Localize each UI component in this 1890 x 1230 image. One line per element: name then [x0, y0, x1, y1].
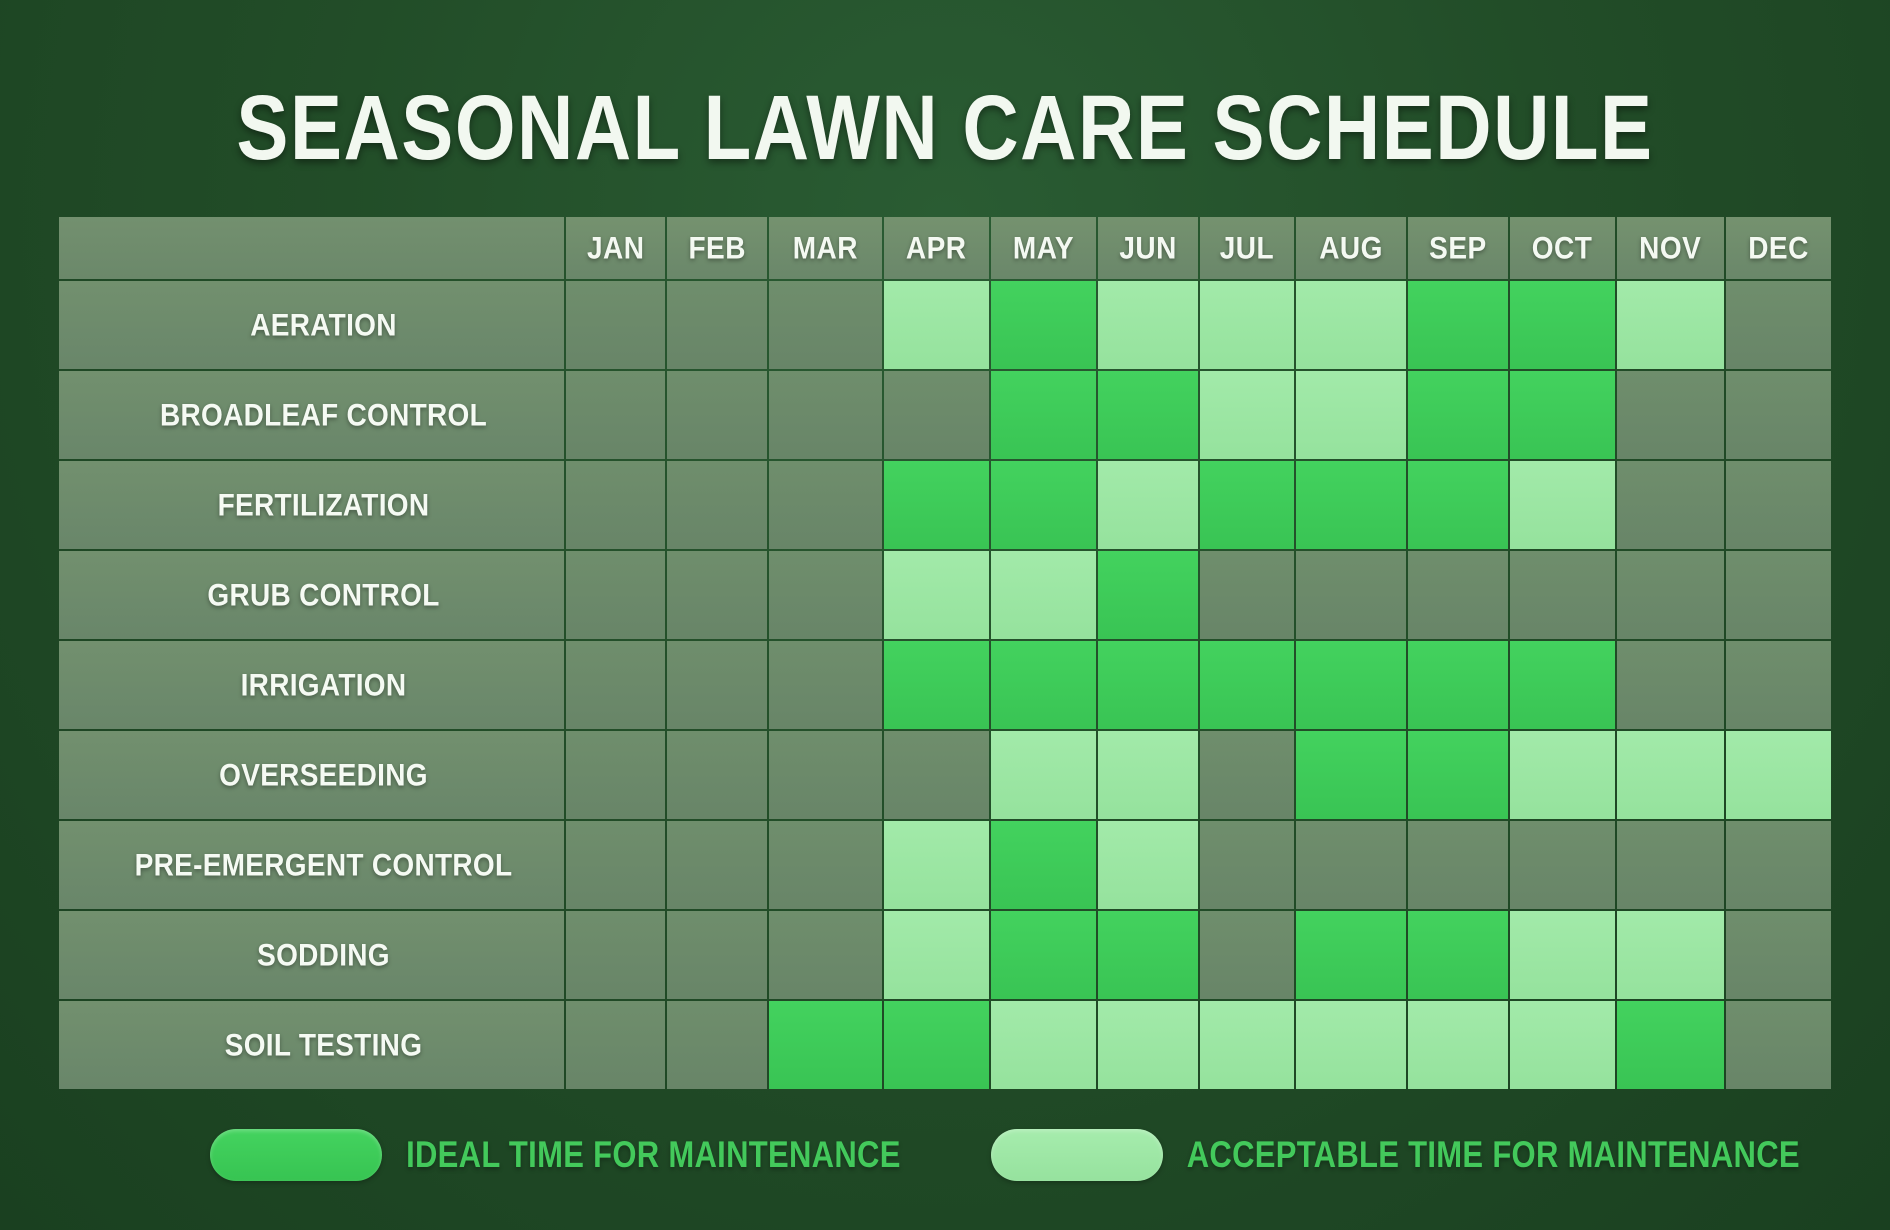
- schedule-cell-ideal[interactable]: [1098, 371, 1197, 459]
- column-header-mar[interactable]: MAR: [769, 217, 882, 279]
- table-row: PRE-EMERGENT CONTROL: [59, 821, 1831, 909]
- schedule-cell-none[interactable]: [884, 731, 989, 819]
- column-header-label: APR: [906, 230, 967, 266]
- schedule-cell-ideal[interactable]: [991, 371, 1097, 459]
- schedule-cell-ideal[interactable]: [769, 1001, 882, 1089]
- table-header-row: JANFEBMARAPRMAYJUNJULAUGSEPOCTNOVDEC: [59, 217, 1831, 279]
- row-header-irrigation[interactable]: IRRIGATION: [59, 641, 564, 729]
- schedule-cell-ideal[interactable]: [884, 1001, 989, 1089]
- schedule-cell-acceptable[interactable]: [1617, 911, 1725, 999]
- schedule-cell-none[interactable]: [566, 371, 665, 459]
- schedule-cell-acceptable[interactable]: [1726, 731, 1831, 819]
- column-header-label: MAR: [793, 230, 858, 266]
- schedule-cell-acceptable[interactable]: [1510, 1001, 1615, 1089]
- schedule-cell-acceptable[interactable]: [1200, 1001, 1294, 1089]
- schedule-cell-acceptable[interactable]: [1510, 461, 1615, 549]
- schedule-cell-acceptable[interactable]: [884, 281, 989, 369]
- column-header-feb[interactable]: FEB: [667, 217, 766, 279]
- schedule-cell-none[interactable]: [667, 461, 766, 549]
- schedule-cell-none[interactable]: [1200, 821, 1294, 909]
- schedule-cell-acceptable[interactable]: [884, 821, 989, 909]
- schedule-cell-acceptable[interactable]: [991, 551, 1097, 639]
- legend-item-ideal: IDEAL TIME FOR MAINTENANCE: [210, 1129, 901, 1181]
- column-header-label: OCT: [1532, 230, 1593, 266]
- legend: IDEAL TIME FOR MAINTENANCEACCEPTABLE TIM…: [0, 1129, 1890, 1181]
- schedule-cell-none[interactable]: [566, 1001, 665, 1089]
- table-row: FERTILIZATION: [59, 461, 1831, 549]
- schedule-cell-none[interactable]: [566, 461, 665, 549]
- title-area: SEASONAL LAWN CARE SCHEDULE: [0, 0, 1890, 165]
- schedule-cell-none[interactable]: [1617, 371, 1725, 459]
- schedule-cell-none[interactable]: [566, 281, 665, 369]
- schedule-cell-none[interactable]: [1200, 731, 1294, 819]
- schedule-cell-none[interactable]: [566, 911, 665, 999]
- schedule-table: JANFEBMARAPRMAYJUNJULAUGSEPOCTNOVDEC AER…: [57, 215, 1833, 1091]
- row-header-label: GRUB CONTROL: [207, 577, 439, 613]
- schedule-cell-ideal[interactable]: [1098, 911, 1197, 999]
- schedule-cell-none[interactable]: [1726, 461, 1831, 549]
- schedule-cell-none[interactable]: [1200, 911, 1294, 999]
- schedule-cell-ideal[interactable]: [1296, 641, 1406, 729]
- schedule-cell-acceptable[interactable]: [1098, 821, 1197, 909]
- schedule-cell-acceptable[interactable]: [1098, 281, 1197, 369]
- column-header-label: AUG: [1319, 230, 1383, 266]
- schedule-cell-ideal[interactable]: [1510, 371, 1615, 459]
- schedule-cell-none[interactable]: [1726, 641, 1831, 729]
- schedule-cell-acceptable[interactable]: [1408, 1001, 1508, 1089]
- schedule-cell-none[interactable]: [1617, 641, 1725, 729]
- column-header-jul[interactable]: JUL: [1200, 217, 1294, 279]
- schedule-cell-acceptable[interactable]: [1296, 371, 1406, 459]
- schedule-cell-none[interactable]: [667, 371, 766, 459]
- schedule-cell-none[interactable]: [566, 821, 665, 909]
- legend-swatch-acceptable: [991, 1129, 1163, 1181]
- schedule-cell-ideal[interactable]: [1200, 461, 1294, 549]
- row-header-grub-control[interactable]: GRUB CONTROL: [59, 551, 564, 639]
- legend-label: ACCEPTABLE TIME FOR MAINTENANCE: [1187, 1137, 1800, 1173]
- schedule-cell-ideal[interactable]: [991, 821, 1097, 909]
- schedule-cell-ideal[interactable]: [991, 281, 1097, 369]
- schedule-cell-none[interactable]: [769, 641, 882, 729]
- row-header-label: OVERSEEDING: [219, 757, 428, 793]
- schedule-cell-acceptable[interactable]: [1200, 281, 1294, 369]
- row-header-label: BROADLEAF CONTROL: [160, 397, 487, 433]
- row-header-overseeding[interactable]: OVERSEEDING: [59, 731, 564, 819]
- column-header-nov[interactable]: NOV: [1617, 217, 1725, 279]
- schedule-cell-acceptable[interactable]: [1510, 731, 1615, 819]
- schedule-cell-ideal[interactable]: [884, 641, 989, 729]
- row-header-label: FERTILIZATION: [218, 487, 430, 523]
- row-header-fertilization[interactable]: FERTILIZATION: [59, 461, 564, 549]
- column-header-may[interactable]: MAY: [991, 217, 1097, 279]
- schedule-cell-none[interactable]: [1726, 551, 1831, 639]
- schedule-cell-ideal[interactable]: [1617, 1001, 1725, 1089]
- row-header-sodding[interactable]: SODDING: [59, 911, 564, 999]
- column-header-label: JUL: [1220, 230, 1274, 266]
- column-header-label: FEB: [688, 230, 746, 266]
- column-header-dec[interactable]: DEC: [1726, 217, 1831, 279]
- schedule-cell-ideal[interactable]: [884, 461, 989, 549]
- schedule-cell-none[interactable]: [667, 641, 766, 729]
- schedule-cell-none[interactable]: [1726, 281, 1831, 369]
- schedule-cell-none[interactable]: [769, 461, 882, 549]
- table-row: SODDING: [59, 911, 1831, 999]
- schedule-cell-acceptable[interactable]: [991, 731, 1097, 819]
- page-title: SEASONAL LAWN CARE SCHEDULE: [236, 74, 1653, 181]
- schedule-cell-none[interactable]: [1296, 821, 1406, 909]
- schedule-cell-ideal[interactable]: [1408, 461, 1508, 549]
- schedule-cell-acceptable[interactable]: [884, 551, 989, 639]
- schedule-cell-ideal[interactable]: [1408, 641, 1508, 729]
- schedule-cell-none[interactable]: [1726, 911, 1831, 999]
- column-header-jun[interactable]: JUN: [1098, 217, 1197, 279]
- schedule-cell-none[interactable]: [769, 281, 882, 369]
- schedule-cell-ideal[interactable]: [1510, 281, 1615, 369]
- schedule-cell-ideal[interactable]: [991, 461, 1097, 549]
- schedule-cell-ideal[interactable]: [1408, 911, 1508, 999]
- row-header-aeration[interactable]: AERATION: [59, 281, 564, 369]
- legend-label: IDEAL TIME FOR MAINTENANCE: [406, 1137, 901, 1173]
- table-row: BROADLEAF CONTROL: [59, 371, 1831, 459]
- schedule-cell-none[interactable]: [667, 731, 766, 819]
- schedule-cell-ideal[interactable]: [1408, 371, 1508, 459]
- schedule-cell-none[interactable]: [566, 641, 665, 729]
- schedule-cell-none[interactable]: [1617, 821, 1725, 909]
- schedule-cell-ideal[interactable]: [1408, 731, 1508, 819]
- schedule-cell-acceptable[interactable]: [991, 1001, 1097, 1089]
- schedule-cell-none[interactable]: [1200, 551, 1294, 639]
- schedule-cell-none[interactable]: [769, 551, 882, 639]
- column-header-label: NOV: [1639, 230, 1701, 266]
- schedule-cell-none[interactable]: [769, 371, 882, 459]
- schedule-cell-none[interactable]: [1408, 551, 1508, 639]
- schedule-cell-none[interactable]: [1726, 1001, 1831, 1089]
- table-row: OVERSEEDING: [59, 731, 1831, 819]
- schedule-cell-ideal[interactable]: [1408, 281, 1508, 369]
- schedule-cell-acceptable[interactable]: [1617, 281, 1725, 369]
- schedule-cell-none[interactable]: [667, 551, 766, 639]
- schedule-cell-ideal[interactable]: [1296, 911, 1406, 999]
- schedule-cell-none[interactable]: [667, 281, 766, 369]
- schedule-cell-ideal[interactable]: [1098, 641, 1197, 729]
- schedule-cell-ideal[interactable]: [1296, 461, 1406, 549]
- schedule-cell-acceptable[interactable]: [1098, 1001, 1197, 1089]
- schedule-cell-none[interactable]: [1510, 551, 1615, 639]
- schedule-cell-acceptable[interactable]: [1296, 1001, 1406, 1089]
- schedule-cell-ideal[interactable]: [1296, 731, 1406, 819]
- column-header-label: SEP: [1429, 230, 1487, 266]
- schedule-cell-none[interactable]: [1296, 551, 1406, 639]
- legend-item-acceptable: ACCEPTABLE TIME FOR MAINTENANCE: [991, 1129, 1800, 1181]
- row-header-label: SODDING: [257, 937, 390, 973]
- table-row: IRRIGATION: [59, 641, 1831, 729]
- schedule-cell-acceptable[interactable]: [1098, 461, 1197, 549]
- schedule-cell-ideal[interactable]: [991, 911, 1097, 999]
- row-header-broadleaf-control[interactable]: BROADLEAF CONTROL: [59, 371, 564, 459]
- row-header-soil-testing[interactable]: SOIL TESTING: [59, 1001, 564, 1089]
- schedule-cell-none[interactable]: [667, 821, 766, 909]
- schedule-cell-ideal[interactable]: [1510, 641, 1615, 729]
- column-header-label: MAY: [1013, 230, 1074, 266]
- schedule-cell-none[interactable]: [769, 821, 882, 909]
- schedule-cell-none[interactable]: [1726, 821, 1831, 909]
- row-header-label: AERATION: [250, 307, 397, 343]
- table-row: GRUB CONTROL: [59, 551, 1831, 639]
- schedule-cell-acceptable[interactable]: [884, 911, 989, 999]
- schedule-cell-ideal[interactable]: [1200, 641, 1294, 729]
- schedule-cell-none[interactable]: [769, 731, 882, 819]
- column-header-oct[interactable]: OCT: [1510, 217, 1615, 279]
- schedule-cell-none[interactable]: [566, 551, 665, 639]
- column-header-aug[interactable]: AUG: [1296, 217, 1406, 279]
- column-header-label: DEC: [1748, 230, 1809, 266]
- column-header-label: JUN: [1119, 230, 1177, 266]
- header-corner-blank: [59, 217, 564, 279]
- table-row: SOIL TESTING: [59, 1001, 1831, 1089]
- schedule-cell-acceptable[interactable]: [1617, 731, 1725, 819]
- schedule-cell-none[interactable]: [566, 731, 665, 819]
- schedule-cell-none[interactable]: [1726, 371, 1831, 459]
- schedule-cell-ideal[interactable]: [1098, 551, 1197, 639]
- schedule-cell-none[interactable]: [1510, 821, 1615, 909]
- infographic-page: SEASONAL LAWN CARE SCHEDULE JANFEBMARAPR…: [0, 0, 1890, 1230]
- column-header-jan[interactable]: JAN: [566, 217, 665, 279]
- column-header-apr[interactable]: APR: [884, 217, 989, 279]
- schedule-cell-acceptable[interactable]: [1510, 911, 1615, 999]
- schedule-cell-acceptable[interactable]: [1200, 371, 1294, 459]
- table-body: AERATIONBROADLEAF CONTROLFERTILIZATIONGR…: [59, 281, 1831, 1089]
- schedule-table-container: JANFEBMARAPRMAYJUNJULAUGSEPOCTNOVDEC AER…: [57, 215, 1833, 1091]
- schedule-cell-none[interactable]: [1408, 821, 1508, 909]
- column-header-sep[interactable]: SEP: [1408, 217, 1508, 279]
- legend-label-text: IDEAL TIME FOR MAINTENANCE: [406, 1133, 901, 1176]
- schedule-cell-none[interactable]: [667, 911, 766, 999]
- legend-swatch-ideal: [210, 1129, 382, 1181]
- schedule-cell-acceptable[interactable]: [1296, 281, 1406, 369]
- column-header-label: JAN: [587, 230, 645, 266]
- schedule-cell-none[interactable]: [884, 371, 989, 459]
- legend-label-text: ACCEPTABLE TIME FOR MAINTENANCE: [1187, 1133, 1800, 1176]
- schedule-cell-ideal[interactable]: [991, 641, 1097, 729]
- schedule-cell-none[interactable]: [769, 911, 882, 999]
- row-header-label: IRRIGATION: [241, 667, 407, 703]
- schedule-cell-none[interactable]: [667, 1001, 766, 1089]
- schedule-cell-acceptable[interactable]: [1098, 731, 1197, 819]
- table-row: AERATION: [59, 281, 1831, 369]
- row-header-label: PRE-EMERGENT CONTROL: [135, 847, 513, 883]
- schedule-cell-none[interactable]: [1617, 461, 1725, 549]
- schedule-cell-none[interactable]: [1617, 551, 1725, 639]
- row-header-pre-emergent-control[interactable]: PRE-EMERGENT CONTROL: [59, 821, 564, 909]
- row-header-label: SOIL TESTING: [225, 1027, 423, 1063]
